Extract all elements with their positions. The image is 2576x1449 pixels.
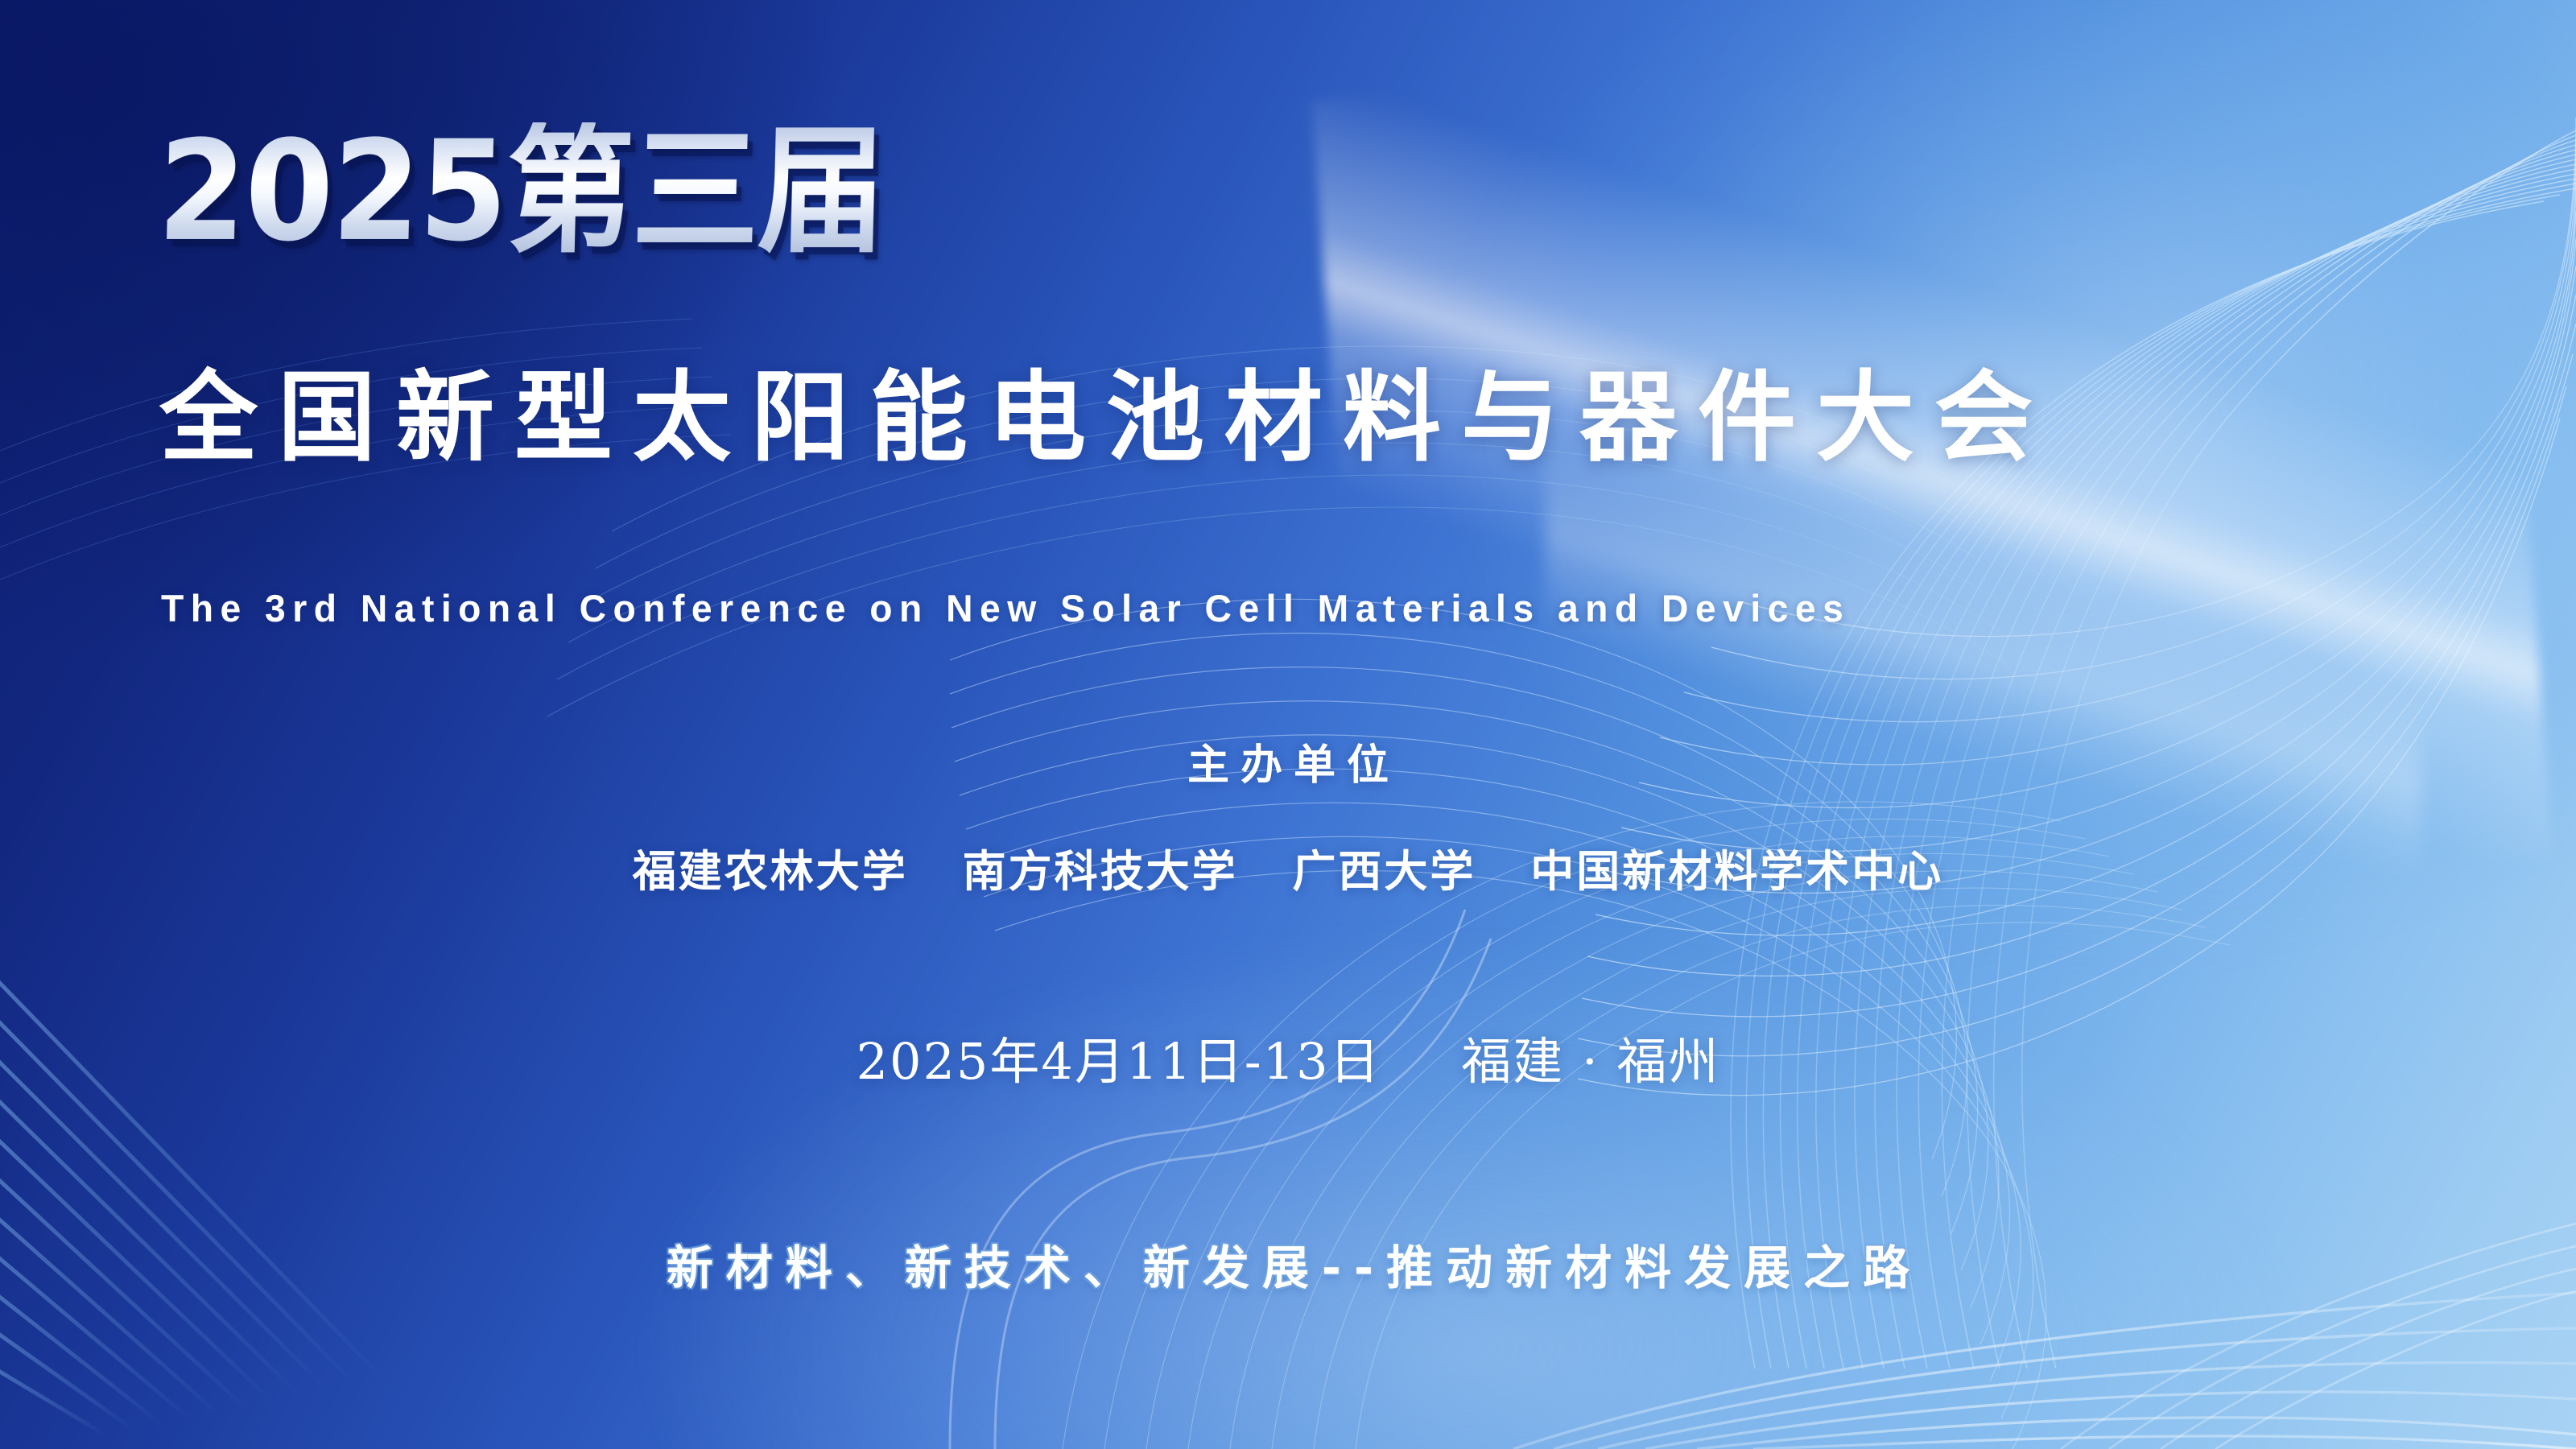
host-organization: 福建农林大学: [633, 845, 908, 897]
headline-year-edition: 2025第三届: [156, 122, 885, 261]
banner-content: 2025第三届 全国新型太阳能电池材料与器件大会 The 3rd Nationa…: [0, 0, 2576, 1449]
conference-main-title: 全国新型太阳能电池材料与器件大会: [159, 369, 2053, 467]
conference-slogan: 新材料、新技术、新发展--推动新材料发展之路: [0, 1230, 2576, 1298]
host-organizations-list: 福建农林大学 南方科技大学 广西大学 中国新材料学术中心: [0, 836, 2576, 899]
date-and-location: 2025年4月11日-13日 福建 · 福州: [0, 1021, 2576, 1093]
host-organization: 广西大学: [1292, 845, 1476, 897]
conference-subtitle-english: The 3rd National Conference on New Solar…: [161, 586, 1850, 630]
conference-location: 福建 · 福州: [1461, 1032, 1719, 1091]
conference-banner: 2025第三届 全国新型太阳能电池材料与器件大会 The 3rd Nationa…: [0, 0, 2576, 1449]
host-section-label: 主办单位: [0, 731, 2576, 791]
host-organization: 中国新材料学术中心: [1530, 845, 1943, 897]
host-organization: 南方科技大学: [963, 845, 1238, 897]
conference-date: 2025年4月11日-13日: [857, 1032, 1381, 1091]
